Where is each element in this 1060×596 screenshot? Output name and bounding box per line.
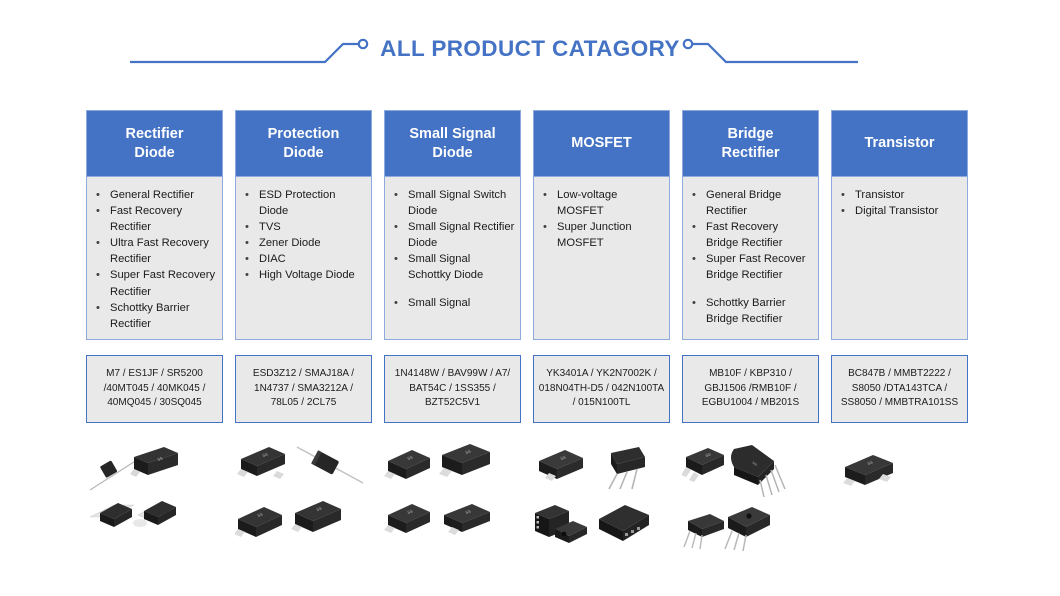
bullet-icon: • — [245, 187, 249, 203]
part-numbers-rectifier-diode: M7 / ES1JF / SR5200 /40MT045 / 40MK045 /… — [86, 355, 223, 423]
list-item: •ESD Protection Diode — [242, 187, 366, 219]
card-body-small-signal-diode: •Small Signal Switch Diode •Small Signal… — [385, 177, 520, 339]
card-title-line: Rectifier — [721, 144, 779, 163]
bullet-icon: • — [692, 219, 696, 235]
category-card-mosfet[interactable]: MOSFET •Low-voltage MOSFET •Super Juncti… — [533, 110, 670, 340]
category-card-protection-diode[interactable]: Protection Diode •ESD Protection Diode •… — [235, 110, 372, 340]
card-body-rectifier-diode: •General Rectifier •Fast Recovery Rectif… — [87, 177, 222, 339]
list-item: •Schottky Barrier Bridge Rectifier — [689, 295, 813, 327]
list-item: •Small Signal Rectifier Diode — [391, 219, 515, 251]
list-item: •General Rectifier — [93, 187, 217, 203]
category-card-bridge-rectifier[interactable]: Bridge Rectifier •General Bridge Rectifi… — [682, 110, 819, 340]
list-item-label: Zener Diode — [259, 237, 321, 249]
bullet-icon: • — [245, 267, 249, 283]
bullet-icon: • — [692, 187, 696, 203]
list-item-label: General Bridge Rectifier — [706, 189, 781, 217]
list-item: •Ultra Fast Recovery Rectifier — [93, 235, 217, 267]
list-item: •Zener Diode — [242, 235, 366, 251]
feature-list: •Low-voltage MOSFET •Super Junction MOSF… — [540, 187, 664, 251]
product-photos-transistor: SS — [831, 435, 968, 560]
list-item-label: Fast Recovery Bridge Rectifier — [706, 221, 782, 249]
card-header-mosfet: MOSFET — [534, 111, 669, 177]
list-item-label: General Rectifier — [110, 189, 194, 201]
list-item-label: Fast Recovery Rectifier — [110, 205, 182, 233]
list-item-label: Super Fast Recovery Rectifier — [110, 269, 215, 297]
part-numbers-transistor: BC847B / MMBT2222 / S8050 /DTA143TCA / S… — [831, 355, 968, 423]
card-body-bridge-rectifier: •General Bridge Rectifier •Fast Recovery… — [683, 177, 818, 339]
bullet-icon: • — [245, 219, 249, 235]
card-header-rectifier-diode: Rectifier Diode — [87, 111, 222, 177]
bullet-icon: • — [841, 187, 845, 203]
list-item-label: Transistor — [855, 189, 904, 201]
card-header-small-signal-diode: Small Signal Diode — [385, 111, 520, 177]
list-item-label: Small Signal Switch Diode — [408, 189, 506, 217]
feature-list: •ESD Protection Diode •TVS •Zener Diode … — [242, 187, 366, 284]
card-title-line: Protection — [268, 125, 340, 144]
bullet-icon: • — [394, 295, 398, 311]
card-title-line: Diode — [409, 144, 495, 163]
card-header-protection-diode: Protection Diode — [236, 111, 371, 177]
card-title-line: Rectifier — [125, 125, 183, 144]
bullet-icon: • — [394, 219, 398, 235]
list-item-label: Schottky Barrier Rectifier — [110, 302, 190, 330]
page-header: ALL PRODUCT CATAGORY — [0, 22, 1060, 82]
feature-list: •Transistor •Digital Transistor — [838, 187, 962, 219]
list-item: •General Bridge Rectifier — [689, 187, 813, 219]
list-item: •Fast Recovery Rectifier — [93, 203, 217, 235]
category-card-row: Rectifier Diode •General Rectifier •Fast… — [86, 110, 974, 340]
bullet-icon: • — [96, 203, 100, 219]
product-photo-row: SS — [86, 435, 974, 560]
category-card-rectifier-diode[interactable]: Rectifier Diode •General Rectifier •Fast… — [86, 110, 223, 340]
card-title-line: MOSFET — [571, 134, 631, 153]
list-item-label: Small Signal Schottky Diode — [408, 253, 483, 281]
bullet-icon: • — [543, 219, 547, 235]
list-item: •Low-voltage MOSFET — [540, 187, 664, 219]
product-photos-rectifier-diode: SS — [86, 435, 223, 560]
product-photos-small-signal-diode: SS SS SS — [384, 435, 521, 560]
product-category-slide: ALL PRODUCT CATAGORY Rectifier Diode •Ge… — [0, 0, 1060, 596]
category-card-transistor[interactable]: Transistor •Transistor •Digital Transist… — [831, 110, 968, 340]
circuit-line-right-icon — [680, 22, 860, 77]
bullet-icon: • — [394, 187, 398, 203]
card-header-transistor: Transistor — [832, 111, 967, 177]
list-item-label: Ultra Fast Recovery Rectifier — [110, 237, 209, 265]
list-item-label: Super Fast Recover Bridge Rectifier — [706, 253, 806, 281]
feature-list: •General Bridge Rectifier •Fast Recovery… — [689, 187, 813, 327]
list-item: • Small Signal — [391, 295, 515, 311]
bullet-icon: • — [96, 300, 100, 316]
list-item-label: Super Junction MOSFET — [557, 221, 632, 249]
bullet-icon: • — [543, 187, 547, 203]
bullet-icon: • — [96, 235, 100, 251]
list-item-label: Small Signal — [408, 297, 470, 309]
list-item: •Transistor — [838, 187, 962, 203]
card-body-transistor: •Transistor •Digital Transistor — [832, 177, 967, 339]
part-numbers-small-signal-diode: 1N4148W / BAV99W / A7/ BAT54C / 1SS355 /… — [384, 355, 521, 423]
list-item: •Super Junction MOSFET — [540, 219, 664, 251]
list-item-label: Schottky Barrier Bridge Rectifier — [706, 297, 786, 325]
page-title: ALL PRODUCT CATAGORY — [0, 36, 1060, 62]
category-card-small-signal-diode[interactable]: Small Signal Diode •Small Signal Switch … — [384, 110, 521, 340]
card-title-line: Bridge — [721, 125, 779, 144]
list-item: • Super Fast Recovery Rectifier — [93, 267, 217, 299]
bullet-icon: • — [96, 187, 100, 203]
card-title-line: Transistor — [864, 134, 934, 153]
part-numbers-mosfet: YK3401A / YK2N7002K / 018N04TH-D5 / 042N… — [533, 355, 670, 423]
product-photos-protection-diode: SS SS — [235, 435, 372, 560]
card-title-line: Small Signal — [409, 125, 495, 144]
feature-list: •General Rectifier •Fast Recovery Rectif… — [93, 187, 217, 332]
bullet-icon: • — [96, 267, 100, 283]
bullet-icon: • — [394, 251, 398, 267]
bullet-icon: • — [245, 251, 249, 267]
card-body-mosfet: •Low-voltage MOSFET •Super Junction MOSF… — [534, 177, 669, 339]
product-photos-bridge-rectifier: SS MB — [682, 435, 819, 560]
list-item: • DIAC — [242, 251, 366, 267]
list-item: •Schottky Barrier Rectifier — [93, 300, 217, 332]
list-item: •TVS — [242, 219, 366, 235]
list-item-label: Digital Transistor — [855, 205, 938, 217]
list-item: •Small Signal Switch Diode — [391, 187, 515, 219]
bullet-icon: • — [841, 203, 845, 219]
card-header-bridge-rectifier: Bridge Rectifier — [683, 111, 818, 177]
part-numbers-bridge-rectifier: MB10F / KBP310 / GBJ1506 /RMB10F / EGBU1… — [682, 355, 819, 423]
card-body-protection-diode: •ESD Protection Diode •TVS •Zener Diode … — [236, 177, 371, 339]
card-title-line: Diode — [268, 144, 340, 163]
list-item: •Digital Transistor — [838, 203, 962, 219]
card-title-line: Diode — [125, 144, 183, 163]
list-item: •Small Signal Schottky Diode — [391, 251, 515, 283]
bullet-icon: • — [245, 235, 249, 251]
list-item-label: ESD Protection Diode — [259, 189, 335, 217]
list-item: •Fast Recovery Bridge Rectifier — [689, 219, 813, 251]
list-item: •Super Fast Recover Bridge Rectifier — [689, 251, 813, 283]
list-item-label: DIAC — [259, 253, 286, 265]
part-number-row: M7 / ES1JF / SR5200 /40MT045 / 40MK045 /… — [86, 355, 974, 423]
bullet-icon: • — [692, 251, 696, 267]
part-numbers-protection-diode: ESD3Z12 / SMAJ18A / 1N4737 / SMA3212A / … — [235, 355, 372, 423]
bullet-icon: • — [692, 295, 696, 311]
list-item-label: Small Signal Rectifier Diode — [408, 221, 514, 249]
feature-list: •Small Signal Switch Diode •Small Signal… — [391, 187, 515, 311]
list-item-label: TVS — [259, 221, 281, 233]
list-item: •High Voltage Diode — [242, 267, 366, 283]
list-item-label: High Voltage Diode — [259, 269, 355, 281]
product-photos-mosfet: SS — [533, 435, 670, 560]
list-item-label: Low-voltage MOSFET — [557, 189, 617, 217]
